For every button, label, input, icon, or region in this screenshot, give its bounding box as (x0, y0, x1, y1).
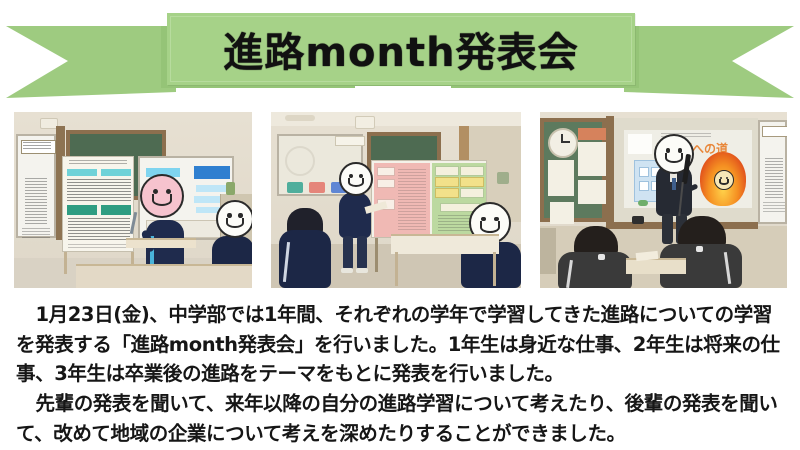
eye-left (227, 213, 231, 217)
poster-headline (69, 160, 127, 166)
slide-flame-face (714, 170, 734, 190)
presenter-student (337, 188, 373, 272)
ribbon-notch (355, 86, 451, 100)
shoe-left (341, 268, 353, 273)
wall-whiteboard (758, 120, 787, 224)
calendar-grid (578, 142, 606, 176)
slide-tree (638, 200, 648, 206)
eraser (632, 216, 644, 224)
board-notes (765, 158, 783, 198)
poster-photos-row-2 (68, 218, 130, 242)
page-title: 進路month発表会 (167, 13, 635, 85)
poster-footer (68, 244, 130, 250)
wall-sensor (355, 116, 375, 129)
mouth (152, 194, 173, 206)
wb-card-blue-2 (194, 166, 230, 179)
photo-row: 高等部への道 (0, 112, 800, 288)
board-title-card (762, 126, 787, 137)
wb-card-blue-3 (196, 185, 228, 192)
leg-right (357, 236, 367, 270)
poster-tag-green-2 (101, 205, 131, 215)
plant (226, 182, 235, 195)
clock-hand-minute (561, 141, 570, 143)
table-leg-left (395, 252, 398, 286)
face-mask-white (216, 200, 252, 238)
mouth (226, 218, 244, 228)
shoe-right (356, 268, 368, 273)
board-title-text (23, 142, 51, 149)
mid-desk (126, 238, 196, 248)
article-body: 1月23日(金)、中学部では1年間、それぞれの学年で学習してきた進路についての学… (16, 300, 788, 448)
projected-icon-1 (287, 182, 303, 193)
corridor-plant (497, 172, 509, 184)
foreground-desk (626, 258, 686, 274)
calendar-header (578, 128, 606, 140)
article-paragraph-1: 1月23日(金)、中学部では1年間、それぞれの学年で学習してきた進路についての学… (16, 300, 788, 389)
sticky-note-1 (435, 177, 459, 187)
mouth (719, 179, 728, 184)
poster-photos-row-1 (67, 179, 131, 201)
easel-leg-left (375, 238, 378, 272)
classroom-scene-left (14, 112, 252, 288)
face-mask-pink (140, 174, 184, 218)
board-notes (25, 178, 47, 224)
face-mask-presenter (339, 162, 373, 196)
audience-student-left (558, 226, 632, 288)
foreground-desk (76, 264, 252, 288)
slide-logo-box (628, 134, 652, 154)
eye-left (666, 148, 671, 153)
eye-right (678, 148, 683, 153)
posted-paper-3 (550, 202, 574, 224)
presenter-body (339, 192, 371, 238)
photo-left (14, 112, 252, 288)
board-title-card (335, 136, 365, 146)
classroom-scene-right: 高等部への道 (540, 112, 787, 288)
projected-icon-2 (309, 182, 325, 193)
necktie (672, 178, 676, 190)
collar-tab (696, 246, 703, 252)
green-card-1 (435, 166, 459, 176)
sticky-note-3 (435, 188, 459, 198)
poster-tag-cyan-2 (101, 169, 131, 176)
pink-card-2 (377, 179, 395, 188)
mouth (480, 221, 500, 232)
poster-left-pink (374, 163, 430, 237)
poster-tag-cyan-1 (67, 169, 97, 176)
table-leg-right (493, 252, 496, 286)
banner: 進路month発表会 (0, 0, 800, 108)
presentation-poster (62, 156, 134, 252)
posted-paper-1 (548, 160, 574, 196)
wall-clock (548, 128, 578, 158)
article-paragraph-2: 先輩の発表を聞いて、来年以降の自分の進路学習について考えたり、後輩の発表を聞いて… (16, 389, 788, 448)
pink-card-1 (377, 167, 395, 176)
easel-leg-left (64, 252, 67, 274)
collar-tab (598, 254, 605, 260)
board-notes-2 (763, 202, 785, 214)
green-card-3 (460, 188, 484, 198)
bulletin-board (540, 118, 606, 222)
green-card-2 (460, 166, 484, 176)
board-frame-left (606, 116, 614, 226)
audience-student-right (660, 216, 742, 288)
classroom-scene-center (271, 112, 521, 288)
audience-table (391, 234, 499, 254)
board-notes-2 (22, 228, 50, 238)
pink-text (398, 169, 426, 231)
mouth (348, 178, 364, 187)
projected-logo (285, 146, 315, 176)
posted-paper-2 (578, 180, 606, 204)
photo-center (271, 112, 521, 288)
poster-tag-green-1 (67, 205, 97, 215)
audience-student-left (279, 208, 331, 288)
sticky-note-2 (460, 177, 484, 187)
ceiling-fixture (285, 115, 315, 121)
eye-right (238, 213, 242, 217)
side-furniture (540, 228, 556, 274)
mouth (665, 153, 684, 164)
leg-left (343, 236, 353, 270)
wall-whiteboard (16, 134, 56, 238)
photo-right: 高等部への道 (540, 112, 787, 288)
